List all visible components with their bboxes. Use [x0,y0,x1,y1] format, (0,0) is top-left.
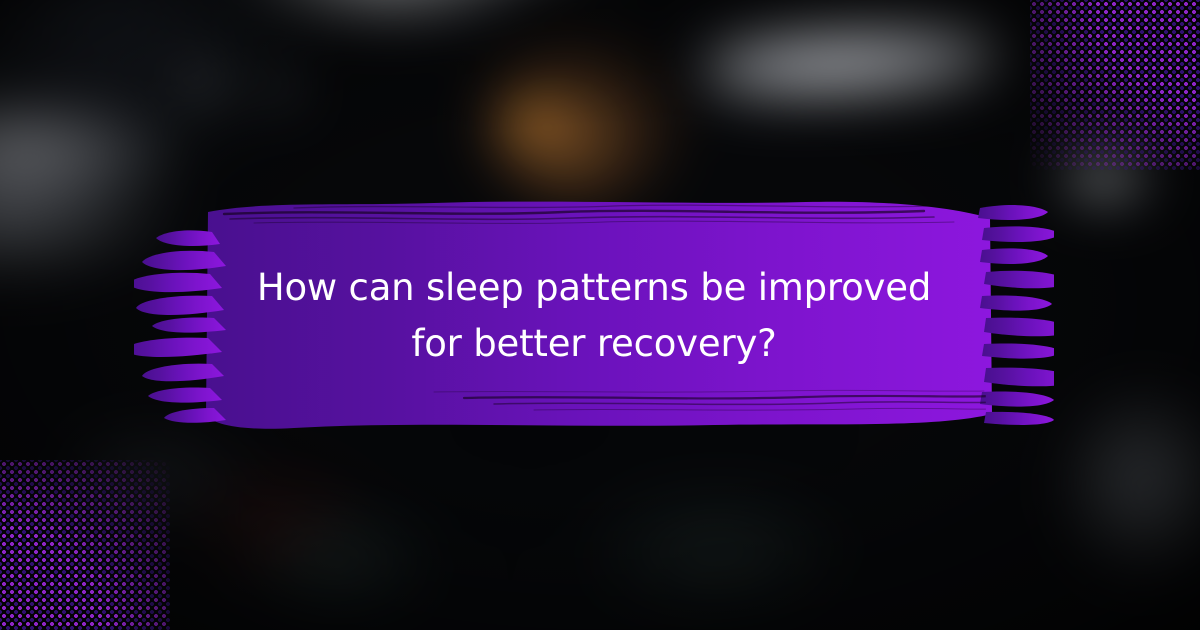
quote-text-layer: How can sleep patterns be improved for b… [134,192,1054,440]
quote-card-canvas: How can sleep patterns be improved for b… [0,0,1200,630]
background-light-dot-2 [258,70,304,110]
quote-text: How can sleep patterns be improved for b… [244,260,944,372]
background-light-dot-1 [176,60,230,106]
background-oval-right [1052,144,1160,210]
quote-banner: How can sleep patterns be improved for b… [134,192,1054,440]
background-glow-right [1060,388,1200,578]
background-amber-hotspot [496,90,566,152]
